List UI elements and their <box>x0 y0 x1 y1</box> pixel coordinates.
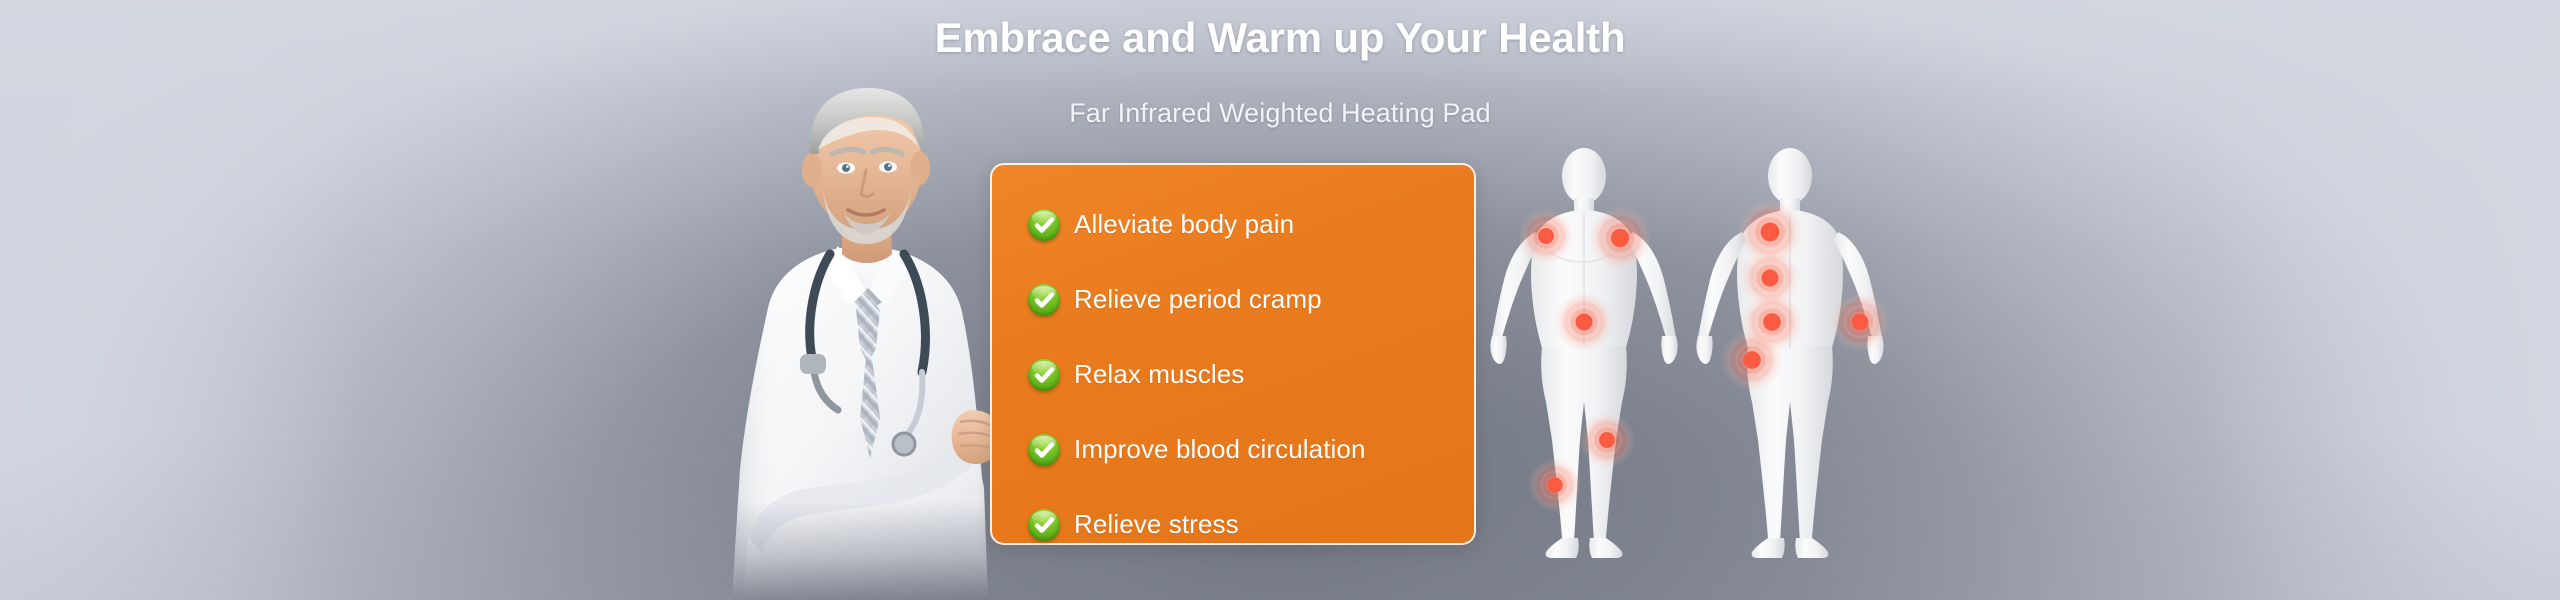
pain-marker-abdomen <box>1554 292 1614 352</box>
feature-item: Relax muscles <box>1028 337 1474 412</box>
promo-banner: Embrace and Warm up Your Health Far Infr… <box>0 0 2560 600</box>
banner-title: Embrace and Warm up Your Health <box>0 14 2560 62</box>
check-circle-icon <box>1028 509 1060 541</box>
pain-marker-lower-leg <box>1528 458 1582 512</box>
check-circle-icon <box>1028 434 1060 466</box>
banner-subtitle: Far Infrared Weighted Heating Pad <box>0 98 2560 129</box>
body-models <box>1480 140 1940 590</box>
pain-marker-left-shoulder <box>1518 208 1574 264</box>
feature-item: Improve blood circulation <box>1028 412 1474 487</box>
pain-marker-knee <box>1579 412 1635 468</box>
feature-item: Relieve period cramp <box>1028 262 1474 337</box>
feature-label: Alleviate body pain <box>1074 209 1294 240</box>
check-circle-icon <box>1028 284 1060 316</box>
feature-label: Relieve stress <box>1074 509 1239 540</box>
check-circle-icon <box>1028 359 1060 391</box>
pain-marker-hip <box>1721 329 1783 391</box>
pain-marker-right-shoulder <box>1588 206 1652 270</box>
body-front-figure <box>1490 148 1677 558</box>
features-card: Alleviate body pain Relieve period cramp… <box>990 163 1476 545</box>
feature-item: Relieve stress <box>1028 487 1474 562</box>
feature-item: Alleviate body pain <box>1028 187 1474 262</box>
body-back-figure <box>1696 148 1890 558</box>
pain-marker-elbow <box>1830 292 1890 352</box>
check-circle-icon <box>1028 209 1060 241</box>
feature-label: Relieve period cramp <box>1074 284 1322 315</box>
feature-label: Relax muscles <box>1074 359 1244 390</box>
doctor-photo <box>672 58 1042 598</box>
feature-label: Improve blood circulation <box>1074 434 1366 465</box>
